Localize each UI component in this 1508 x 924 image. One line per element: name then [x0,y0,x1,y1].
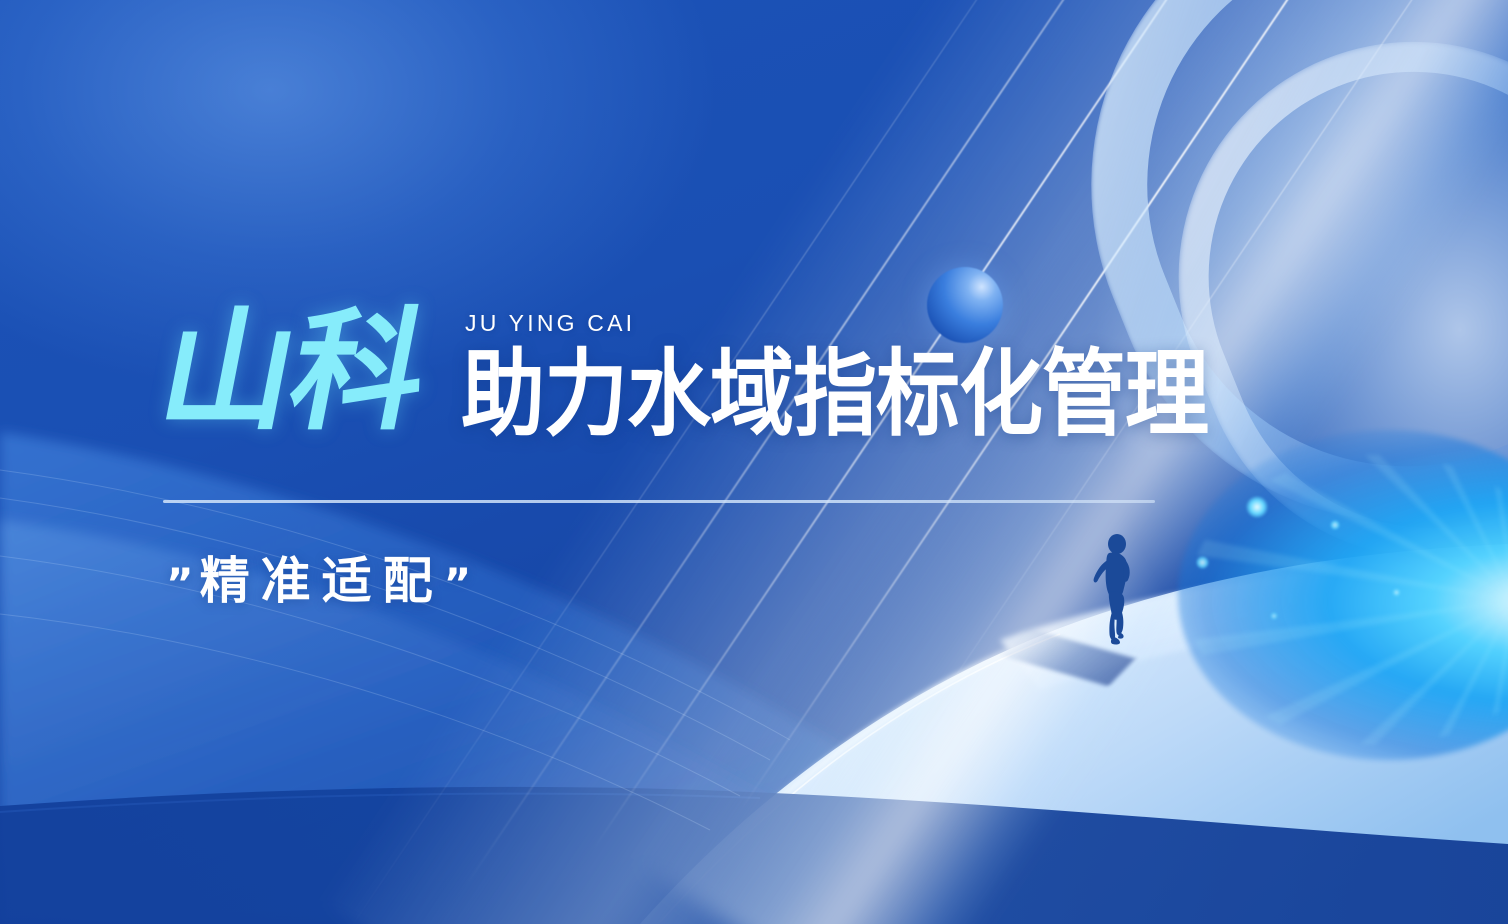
tagline: ”精准适配” [166,541,477,613]
headline-text: 助力水域指标化管理 [461,347,1208,441]
divider-line [163,500,1155,503]
quote-open: ” [166,559,200,608]
brand-name: 山科 [150,306,436,438]
promo-banner: 山科 JU YING CAI 助力水域指标化管理 ”精准适配” [0,0,1508,924]
tagline-text: 精准适配 [200,552,444,610]
brand-pinyin: JU YING CAI [465,310,1208,337]
banner-content: 山科 JU YING CAI 助力水域指标化管理 ”精准适配” [0,0,1508,924]
quote-close: ” [444,559,478,608]
title-row: 山科 JU YING CAI 助力水域指标化管理 [163,306,1208,438]
title-right-stack: JU YING CAI 助力水域指标化管理 [461,306,1208,431]
